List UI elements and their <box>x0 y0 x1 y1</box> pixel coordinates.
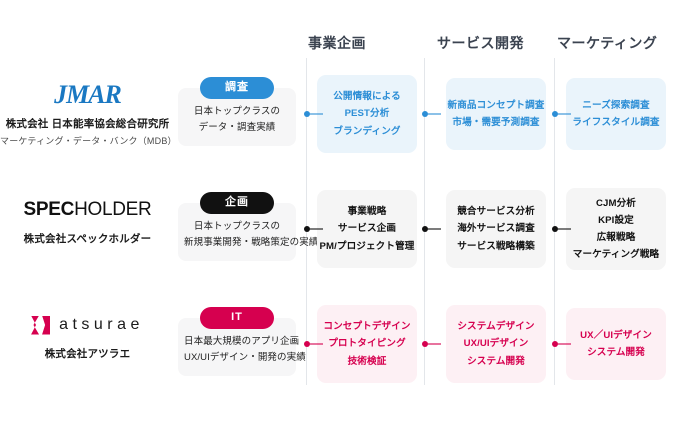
company-block-atsurae: atsurae株式会社アツラエ <box>0 308 175 361</box>
column-header-0: 事業企画 <box>308 33 366 53</box>
matrix-cell-line: 海外サービス調査 <box>457 220 535 237</box>
matrix-cell-specholder-c2: CJM分析KPI設定広報戦略マーケティング戦略 <box>566 188 666 270</box>
connector-line <box>428 113 441 115</box>
atsurae-x-left <box>31 316 39 335</box>
matrix-cell-line: PM/プロジェクト管理 <box>320 238 415 255</box>
matrix-cell-line: UX/UIデザイン <box>464 335 529 352</box>
matrix-cell-line: マーケティング戦略 <box>573 246 659 263</box>
matrix-cell-line: システムデザイン <box>457 318 534 335</box>
matrix-cell-line: ライフスタイル調査 <box>572 114 659 131</box>
matrix-cell-line: プロトタイピング <box>328 335 406 352</box>
strength-desc-line: 新規事業開発・戦略策定の実績 <box>184 235 290 251</box>
strength-card-jmar: 調査日本トップクラスのデータ・調査実績 <box>178 88 296 146</box>
matrix-cell-line: 広報戦略 <box>597 229 636 246</box>
specholder-wordmark-bold: SPEC <box>24 199 75 220</box>
matrix-cell-jmar-c2: ニーズ探索調査ライフスタイル調査 <box>566 78 666 150</box>
capability-matrix-diagram: 事業企画サービス開発マーケティングJMAR株式会社 日本能率協会総合研究所マーケ… <box>0 0 700 423</box>
matrix-cell-line: 新商品コンセプト調査 <box>448 97 545 114</box>
category-pill-atsurae: IT <box>200 307 274 329</box>
matrix-cell-line: コンセプトデザイン <box>323 318 410 335</box>
strength-card-atsurae: IT日本最大規模のアプリ企画UX/UIデザイン・開発の実績 <box>178 318 296 376</box>
matrix-cell-specholder-c0: 事業戦略サービス企画PM/プロジェクト管理 <box>317 190 417 268</box>
matrix-cell-line: システム開発 <box>587 344 645 361</box>
company-logo-atsurae: atsurae <box>0 308 175 342</box>
strength-desc-line: データ・調査実績 <box>184 120 290 136</box>
category-pill-specholder: 企画 <box>200 192 274 214</box>
column-divider-0 <box>306 58 307 385</box>
company-logo-specholder: SPECHOLDER <box>0 193 175 227</box>
specholder-wordmark-light: HOLDER <box>74 199 151 220</box>
strength-card-specholder: 企画日本トップクラスの新規事業開発・戦略策定の実績 <box>178 203 296 261</box>
company-subtitle-jmar: マーケティング・データ・バンク（MDB） <box>0 134 175 147</box>
atsurae-x-right <box>42 316 50 335</box>
matrix-cell-line: KPI設定 <box>598 212 634 229</box>
matrix-cell-line: ニーズ探索調査 <box>582 97 649 114</box>
matrix-cell-line: 競合サービス分析 <box>457 203 535 220</box>
matrix-cell-specholder-c1: 競合サービス分析海外サービス調査サービス戦略構築 <box>446 190 546 268</box>
matrix-cell-line: UX／UIデザイン <box>580 327 652 344</box>
jmar-wordmark: JMAR <box>54 82 121 108</box>
matrix-cell-atsurae-c1: システムデザインUX/UIデザインシステム開発 <box>446 305 546 383</box>
matrix-cell-line: 技術検証 <box>348 353 387 370</box>
company-name-specholder: 株式会社スペックホルダー <box>0 231 175 246</box>
connector-line <box>428 228 441 230</box>
company-block-jmar: JMAR株式会社 日本能率協会総合研究所マーケティング・データ・バンク（MDB） <box>0 78 175 147</box>
atsurae-x-icon <box>31 316 50 335</box>
column-divider-2 <box>554 58 555 385</box>
strength-desc-line: 日本最大規模のアプリ企画 <box>184 334 290 350</box>
matrix-cell-line: PEST分析 <box>345 105 390 122</box>
strength-desc-line: 日本トップクラスの <box>184 104 290 120</box>
company-name-jmar: 株式会社 日本能率協会総合研究所 <box>0 116 175 131</box>
column-divider-1 <box>424 58 425 385</box>
specholder-wordmark: SPECHOLDER <box>24 199 152 221</box>
column-header-2: マーケティング <box>557 33 657 53</box>
connector-line <box>428 343 441 345</box>
atsurae-wordmark-text: atsurae <box>59 316 144 334</box>
matrix-cell-line: 公開情報による <box>333 88 401 105</box>
matrix-cell-line: サービス企画 <box>338 220 396 237</box>
matrix-cell-line: 事業戦略 <box>348 203 387 220</box>
category-pill-jmar: 調査 <box>200 77 274 99</box>
matrix-cell-line: CJM分析 <box>596 195 636 212</box>
matrix-cell-jmar-c0: 公開情報によるPEST分析ブランディング <box>317 75 417 153</box>
company-block-specholder: SPECHOLDER株式会社スペックホルダー <box>0 193 175 246</box>
matrix-cell-line: サービス戦略構築 <box>457 238 535 255</box>
matrix-cell-line: 市場・需要予測調査 <box>452 114 539 131</box>
matrix-cell-line: ブランディング <box>333 123 400 140</box>
company-logo-jmar: JMAR <box>0 78 175 112</box>
column-header-1: サービス開発 <box>437 33 524 53</box>
company-name-atsurae: 株式会社アツラエ <box>0 346 175 361</box>
matrix-cell-jmar-c1: 新商品コンセプト調査市場・需要予測調査 <box>446 78 546 150</box>
strength-desc-line: 日本トップクラスの <box>184 219 290 235</box>
matrix-cell-atsurae-c2: UX／UIデザインシステム開発 <box>566 308 666 380</box>
matrix-cell-atsurae-c0: コンセプトデザインプロトタイピング技術検証 <box>317 305 417 383</box>
strength-desc-line: UX/UIデザイン・開発の実績 <box>184 350 290 366</box>
matrix-cell-line: システム開発 <box>467 353 525 370</box>
atsurae-wordmark: atsurae <box>31 316 144 335</box>
